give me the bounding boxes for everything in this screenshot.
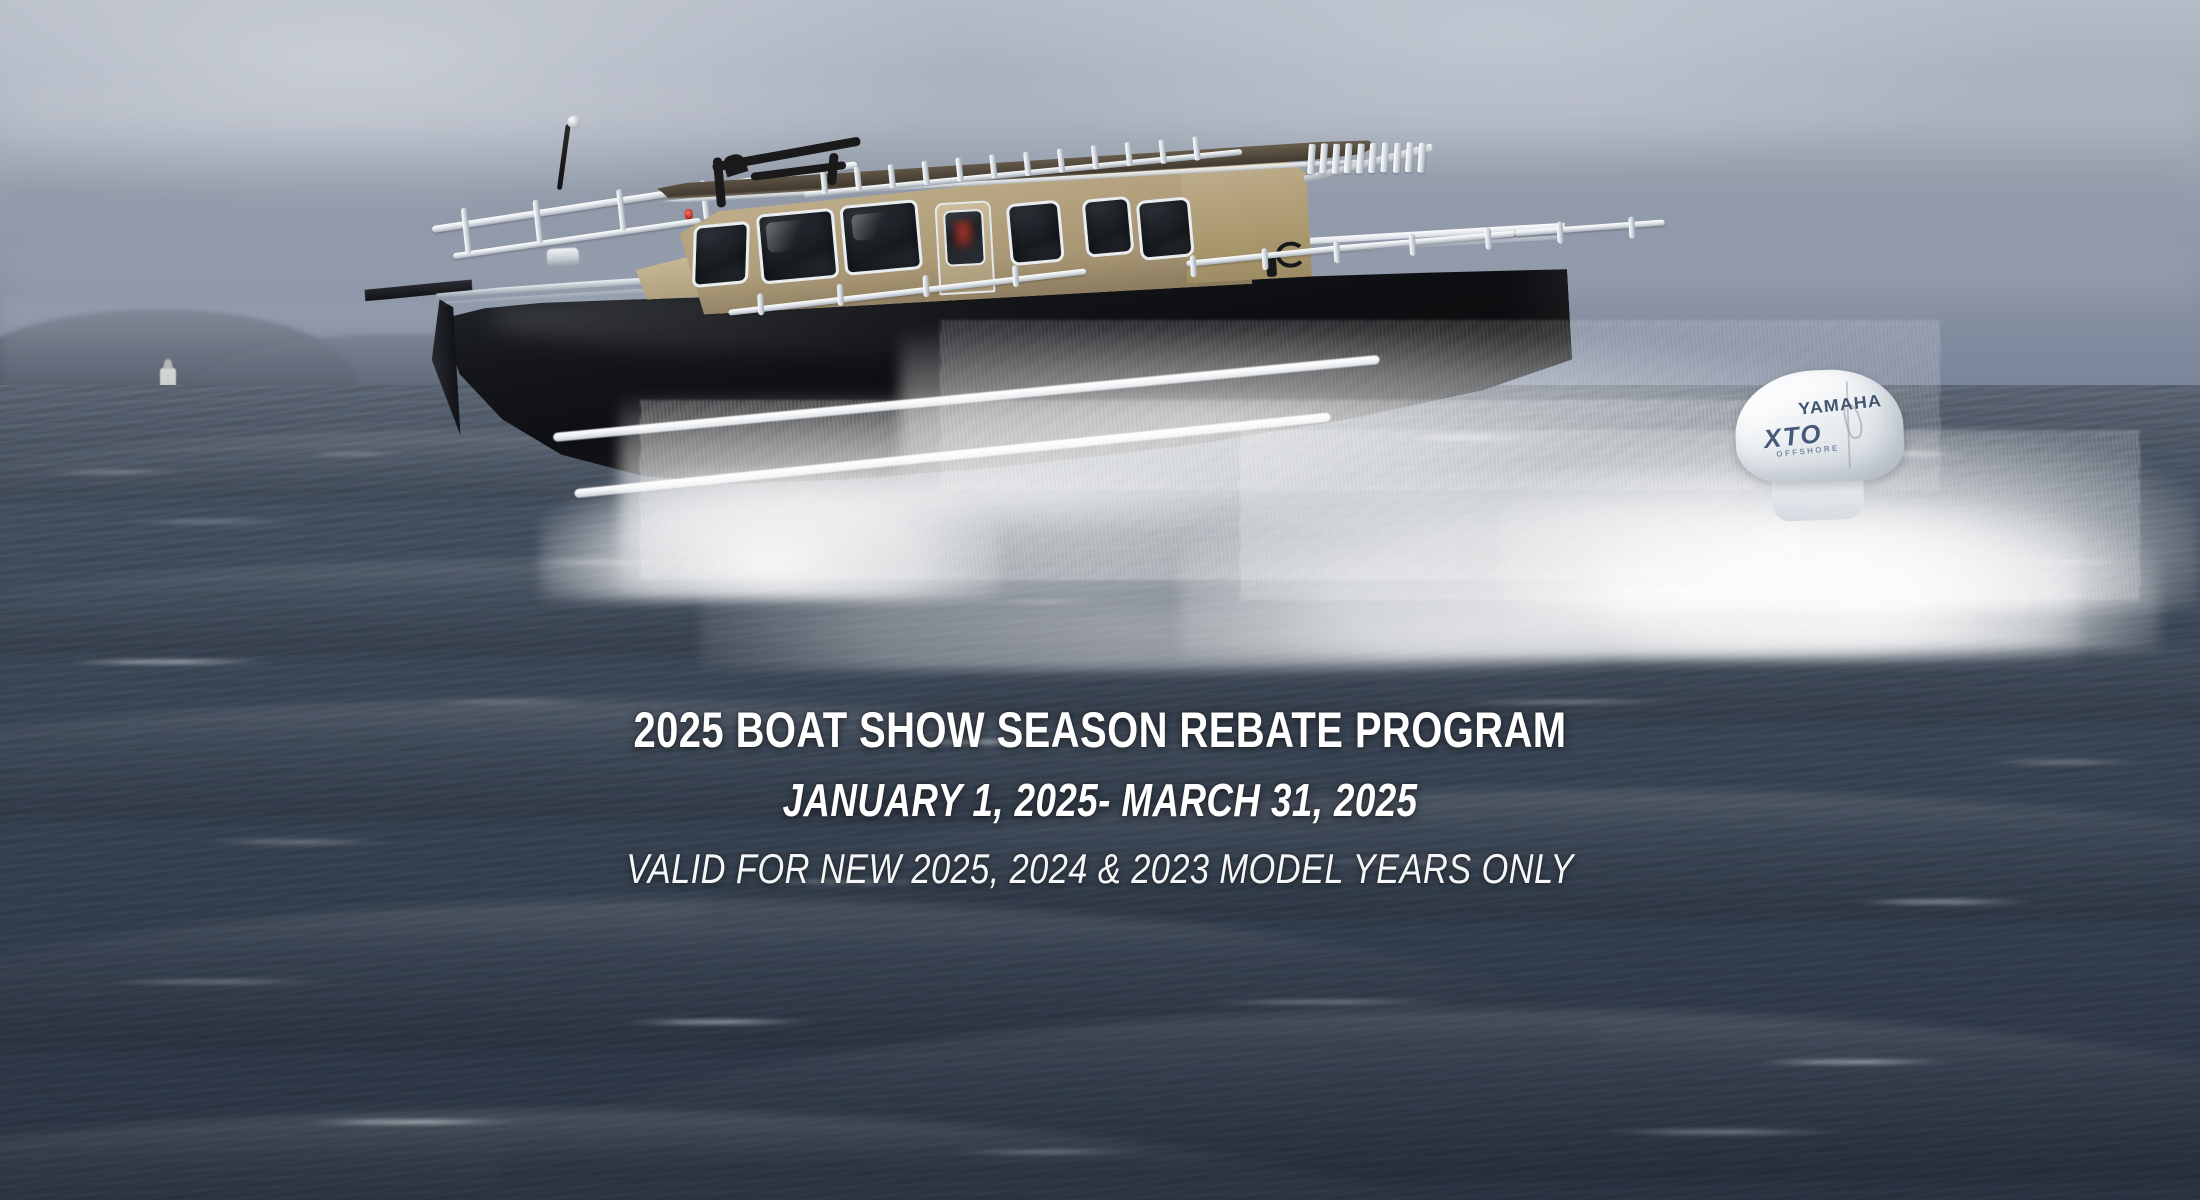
whitecap [100, 980, 340, 984]
rail-post [1190, 255, 1197, 277]
whitecap [40, 470, 190, 474]
promo-text-block: 2025 BOAT SHOW SEASON REBATE PROGRAM JAN… [0, 704, 2200, 893]
rod-holder-tube [1380, 143, 1389, 173]
rail-post [532, 199, 543, 243]
whitecap [1200, 1000, 1460, 1004]
rod-holder-tube [1057, 148, 1065, 172]
whitecap [300, 1120, 530, 1124]
whitecap [60, 660, 280, 664]
rail-post [1261, 248, 1268, 270]
whitecap [950, 1150, 1150, 1154]
promo-date-range: JANUARY 1, 2025- MARCH 31, 2025 [220, 773, 1980, 827]
rail-post [757, 293, 764, 315]
rod-holder-tube [1393, 142, 1402, 172]
cabin-interior-glow [951, 219, 975, 250]
rail-post [1409, 234, 1416, 256]
navigation-light [684, 209, 693, 219]
rod-holder-tube [1192, 136, 1200, 160]
whitecap [620, 1020, 820, 1024]
rail-post [922, 275, 929, 297]
rail-post [616, 189, 627, 231]
rail-post [837, 284, 844, 306]
window-glint [851, 211, 895, 241]
rail-post [1485, 227, 1492, 249]
rod-holder-tube [1405, 142, 1414, 172]
rod-holder-tube [922, 160, 930, 184]
rail-post [1628, 216, 1635, 238]
rail-post [1012, 265, 1019, 287]
rod-holder-tube [1356, 143, 1365, 173]
radar-arch [709, 133, 872, 206]
rod-holder-tube [1307, 144, 1316, 174]
whitecap [300, 452, 410, 456]
whitecap [120, 520, 310, 524]
rod-holder-tube [1417, 142, 1426, 172]
rod-holder-tube [1091, 145, 1099, 169]
rail-post [1333, 241, 1340, 263]
rail-post [1556, 221, 1563, 243]
rod-holder-tube [1368, 143, 1377, 173]
rod-holder-tube [1125, 142, 1133, 166]
rod-holder-tube [1319, 144, 1328, 174]
window-glint [765, 219, 814, 253]
whitecap [1600, 1130, 1850, 1134]
rail-post [461, 207, 472, 253]
promo-headline: 2025 BOAT SHOW SEASON REBATE PROGRAM [220, 704, 1980, 757]
rod-holder-tube [955, 157, 963, 181]
hero-banner: YAMAHA XTO OFFSHORE 2025 BOAT SHOW SEASO… [0, 0, 2200, 1200]
rail-bar [1515, 219, 1665, 236]
rod-holder-tube [989, 154, 997, 178]
rod-holder-tube [1023, 151, 1031, 175]
arch-member [721, 152, 748, 178]
foreground-foam [1600, 500, 2160, 650]
rod-holder-tube [1159, 139, 1167, 163]
whitecap [1750, 1060, 1960, 1064]
rod-holder-tube [888, 164, 896, 188]
promo-eligibility: VALID FOR NEW 2025, 2024 & 2023 MODEL YE… [198, 845, 2002, 893]
whitecap [1850, 900, 2040, 904]
foreground-foam [700, 540, 1600, 670]
